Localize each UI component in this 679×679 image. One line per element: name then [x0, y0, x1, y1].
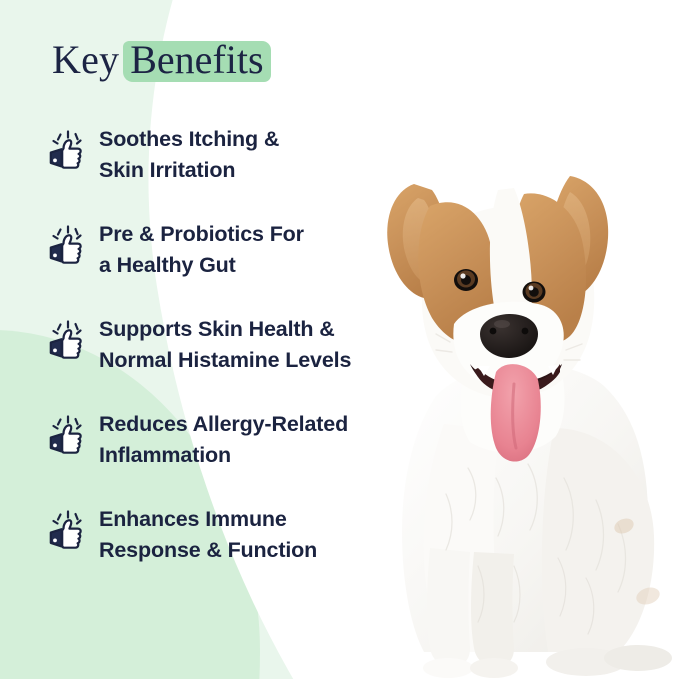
list-item: Pre & Probiotics For a Healthy Gut — [44, 217, 444, 291]
benefit-line: Enhances Immune — [99, 504, 317, 535]
thumbs-up-icon — [44, 318, 90, 364]
benefit-line: Skin Irritation — [99, 155, 279, 186]
benefit-line: Reduces Allergy-Related — [99, 409, 348, 440]
list-item-label: Supports Skin Health & Normal Histamine … — [99, 312, 351, 375]
benefit-line: Soothes Itching & — [99, 124, 279, 155]
list-item-label: Pre & Probiotics For a Healthy Gut — [99, 217, 304, 280]
thumbs-up-icon — [44, 508, 90, 554]
thumbs-up-icon — [44, 128, 90, 174]
benefit-line: Inflammation — [99, 440, 348, 471]
list-item: Enhances Immune Response & Function — [44, 502, 444, 576]
key-benefits-banner: KeyBenefits Sooth — [0, 0, 679, 679]
list-item-label: Enhances Immune Response & Function — [99, 502, 317, 565]
thumbs-up-icon — [44, 223, 90, 269]
page-title-word-key: Key — [52, 37, 119, 82]
thumbs-up-icon — [44, 413, 90, 459]
benefits-list: Soothes Itching & Skin Irritation — [44, 122, 444, 576]
list-item: Supports Skin Health & Normal Histamine … — [44, 312, 444, 386]
page-title: KeyBenefits — [52, 38, 271, 84]
benefit-line: a Healthy Gut — [99, 250, 304, 281]
benefit-line: Pre & Probiotics For — [99, 219, 304, 250]
page-title-word-benefits-highlight: Benefits — [123, 38, 270, 84]
list-item: Reduces Allergy-Related Inflammation — [44, 407, 444, 481]
benefit-line: Supports Skin Health & — [99, 314, 351, 345]
list-item-label: Soothes Itching & Skin Irritation — [99, 122, 279, 185]
benefit-line: Normal Histamine Levels — [99, 345, 351, 376]
list-item-label: Reduces Allergy-Related Inflammation — [99, 407, 348, 470]
list-item: Soothes Itching & Skin Irritation — [44, 122, 444, 196]
benefit-line: Response & Function — [99, 535, 317, 566]
